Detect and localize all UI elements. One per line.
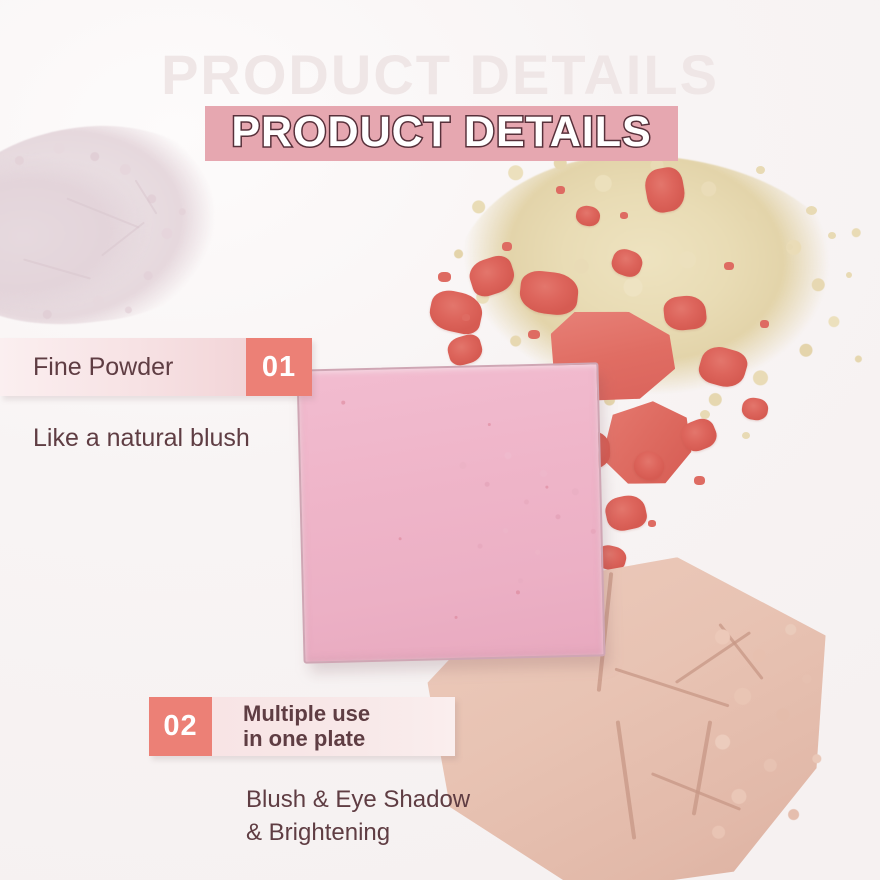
feature-02-title-line-2: in one plate <box>243 727 365 752</box>
coral-powder-fleck <box>648 520 656 527</box>
feature-02-label-box: Multiple use in one plate <box>212 697 455 756</box>
feature-01-title: Fine Powder <box>33 353 173 382</box>
cream-powder-fleck <box>786 244 793 250</box>
feature-02-description-line-1: Blush & Eye Shadow <box>246 783 470 816</box>
feature-02-title-line-1: Multiple use <box>243 702 370 727</box>
feature-01-label-box: Fine Powder <box>0 338 246 396</box>
cream-powder-fleck <box>846 272 852 278</box>
coral-powder-fleck <box>528 330 540 339</box>
feature-01-description: Like a natural blush <box>33 424 250 453</box>
product-details-image: PRODUCT DETAILS PRODUCT DETAILS Fine Pow… <box>0 0 880 880</box>
pan-speck <box>341 401 345 405</box>
pan-speck <box>455 616 458 619</box>
page-title-banner: PRODUCT DETAILS <box>205 106 678 161</box>
cream-powder-fleck <box>806 206 817 215</box>
cream-powder-fleck <box>828 232 836 239</box>
feature-01-bar: Fine Powder 01 <box>0 338 312 396</box>
pan-speck <box>399 537 402 540</box>
feature-02-description-line-2: & Brightening <box>246 816 470 849</box>
page-title: PRODUCT DETAILS <box>231 111 651 154</box>
coral-powder-fleck <box>620 212 628 219</box>
feature-01-number-box: 01 <box>246 338 312 396</box>
feature-02-number: 02 <box>163 710 197 743</box>
feature-01-number: 01 <box>262 351 296 384</box>
cream-powder-fleck <box>756 166 765 174</box>
coral-powder-fleck <box>694 476 705 485</box>
coral-powder-fleck <box>438 272 451 282</box>
coral-powder-fleck <box>556 186 565 194</box>
cream-powder-fleck <box>742 432 750 439</box>
coral-powder-fleck <box>760 320 769 328</box>
coral-powder-fleck <box>502 242 512 251</box>
pan-powder-crumbs <box>434 424 635 607</box>
ghost-page-title: PRODUCT DETAILS <box>0 42 880 107</box>
feature-02-number-box: 02 <box>149 697 212 756</box>
nude-powder-crumbs <box>686 607 875 863</box>
feature-02-bar: 02 Multiple use in one plate <box>149 697 455 756</box>
pan-speck <box>488 423 491 426</box>
feature-02-description: Blush & Eye Shadow & Brightening <box>246 783 470 849</box>
coral-powder-fleck <box>724 262 734 270</box>
lilac-powder-crumbs <box>0 115 240 344</box>
coral-powder-fleck <box>462 314 470 321</box>
